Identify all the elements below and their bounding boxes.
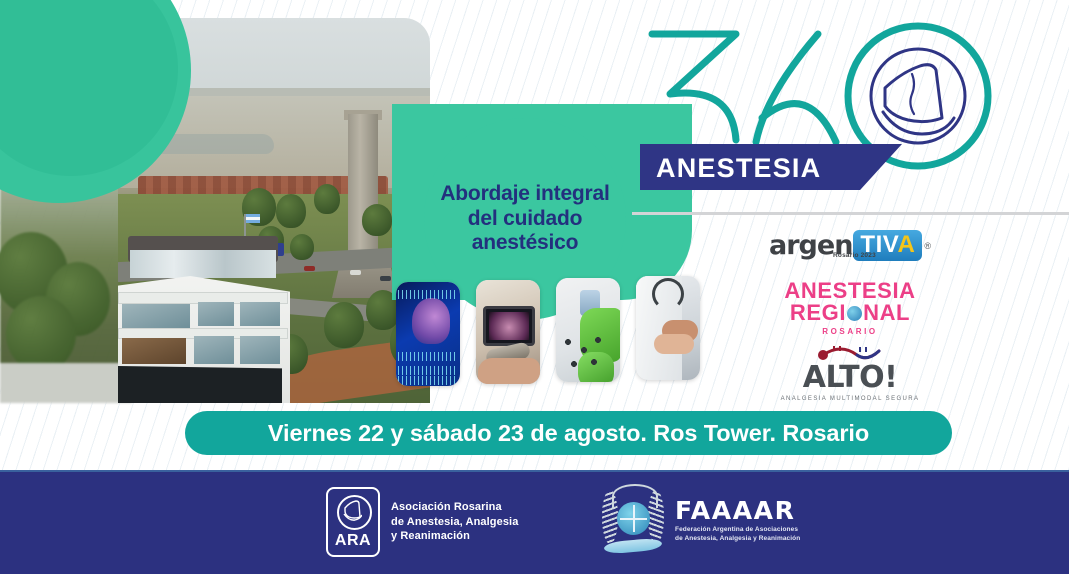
- footer-top-line: [0, 470, 1069, 472]
- anreg-nal-text: NAL: [863, 300, 910, 325]
- event-poster: Abordaje integral del cuidado anestésico: [0, 0, 1069, 574]
- anreg-globe-icon: [847, 306, 862, 321]
- ara-acronym: ARA: [328, 532, 378, 550]
- sponsor-alto: ALTO! ANALGESIA MULTIMODAL SEGURA: [700, 342, 1000, 402]
- ara-emblem-icon: ARA: [326, 487, 380, 557]
- sponsor-argentiva: argenTIVA® Rosario 2023: [700, 230, 1000, 261]
- faaaar-text-block: FAAAAR Federación Argentina de Asociacio…: [675, 498, 800, 544]
- alto-word: ALTO!: [700, 363, 1000, 393]
- faaaar-acronym: FAAAAR: [675, 498, 800, 523]
- date-venue-banner: Viernes 22 y sábado 23 de agosto. Ros To…: [185, 411, 952, 455]
- anreg-line3: ROSARIO: [700, 327, 1000, 336]
- faaaar-emblem-icon: [600, 484, 666, 558]
- tagline-text: Abordaje integral del cuidado anestésico: [437, 182, 613, 255]
- date-venue-text: Viernes 22 y sábado 23 de agosto. Ros To…: [268, 420, 869, 447]
- anestesia-tag: ANESTESIA: [640, 144, 902, 190]
- sponsor-anestesia-regional: ANESTESIA REGINAL ROSARIO: [700, 280, 1000, 336]
- footer-bar: ARA Asociación Rosarina de Anestesia, An…: [0, 470, 1069, 574]
- ara-hand-icon: [342, 500, 362, 521]
- doctor-patient-hands-photo: [636, 276, 700, 380]
- ara-line1: Asociación Rosarina: [391, 500, 518, 515]
- section-divider: [632, 212, 1069, 215]
- ara-name: Asociación Rosarina de Anestesia, Analge…: [391, 500, 518, 545]
- alto-smile-icon: [700, 342, 1000, 362]
- ultrasound-tablet-photo: [476, 280, 540, 384]
- ara-line2: de Anestesia, Analgesia: [391, 515, 518, 530]
- gloved-hands-lab-photo: [556, 278, 620, 382]
- anestesia-tag-label: ANESTESIA: [656, 153, 821, 184]
- alto-subtitle: ANALGESIA MULTIMODAL SEGURA: [700, 396, 1000, 402]
- anreg-line2: REGINAL: [700, 302, 1000, 325]
- photo-thumbnail-strip: [396, 282, 684, 390]
- argentiva-subtitle: Rosario 2023: [833, 252, 876, 259]
- faaaar-subtitle: Federación Argentina de Asociaciones de …: [675, 526, 800, 544]
- registered-mark: ®: [924, 241, 931, 251]
- brain-eeg-photo: [396, 282, 460, 386]
- argentiva-a-text: A: [897, 231, 915, 258]
- faaaar-line1: Federación Argentina de Asociaciones: [675, 526, 800, 535]
- ara-line3: y Reanimación: [391, 529, 518, 544]
- anreg-line1: ANESTESIA: [700, 280, 1000, 302]
- logo-360-anestesia: ANESTESIA: [640, 22, 1040, 192]
- logo-faaaar: FAAAAR Federación Argentina de Asociacio…: [600, 484, 800, 558]
- sponsor-logos: argenTIVA® Rosario 2023 ANESTESIA REGINA…: [700, 224, 1000, 400]
- anreg-regi-text: REGI: [790, 300, 846, 325]
- faaaar-line2: de Anestesia, Analgesia y Reanimación: [675, 535, 800, 544]
- logo-ara: ARA Asociación Rosarina de Anestesia, An…: [326, 487, 518, 557]
